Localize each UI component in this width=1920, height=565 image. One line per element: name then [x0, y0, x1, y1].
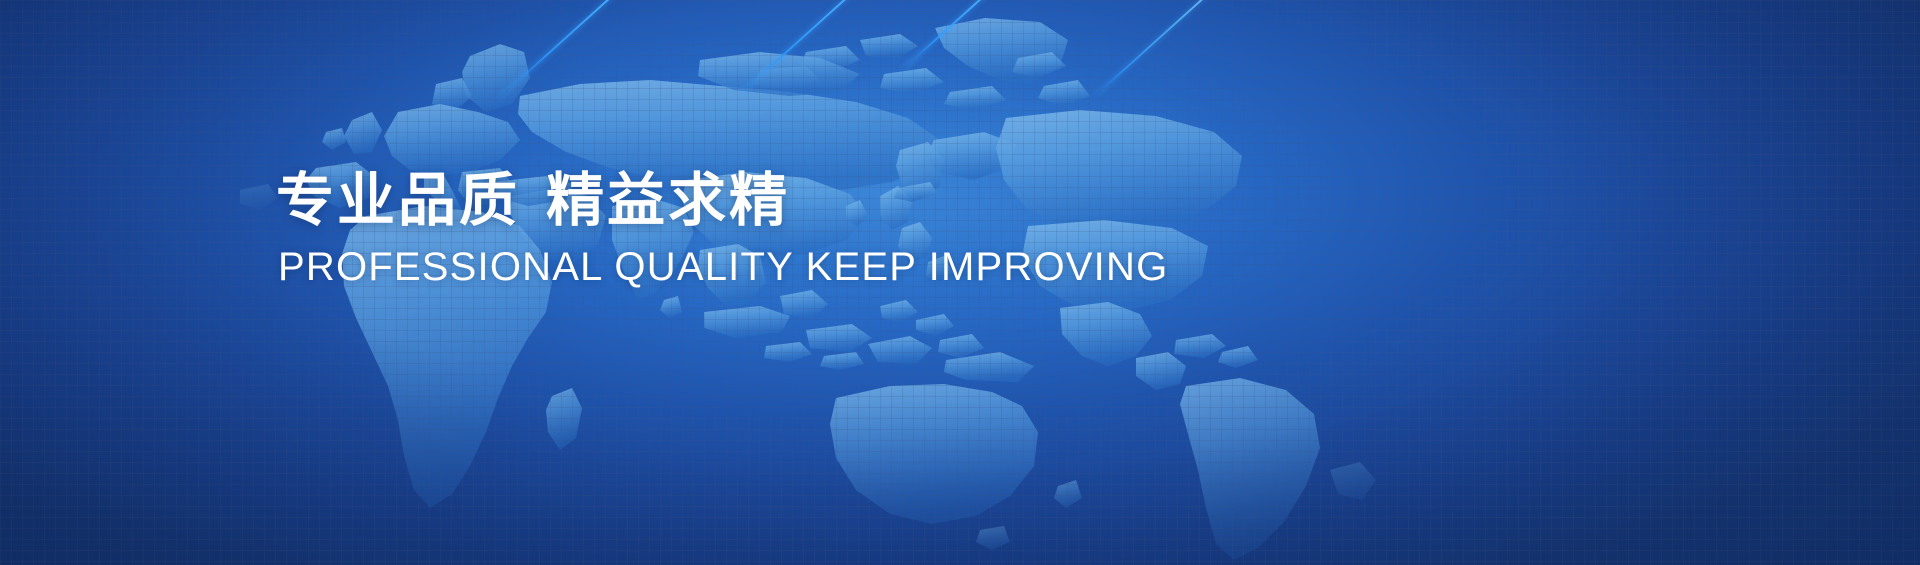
- headline-english: PROFESSIONAL QUALITY KEEP IMPROVING: [278, 245, 1168, 289]
- headline-chinese-first: 专业品质: [276, 166, 520, 234]
- headline-chinese: 专业品质精益求精: [276, 168, 1168, 233]
- hero-banner: 专业品质精益求精 PROFESSIONAL QUALITY KEEP IMPRO…: [0, 0, 1920, 565]
- headline-chinese-second: 精益求精: [546, 166, 790, 234]
- banner-copy: 专业品质精益求精 PROFESSIONAL QUALITY KEEP IMPRO…: [276, 168, 1168, 289]
